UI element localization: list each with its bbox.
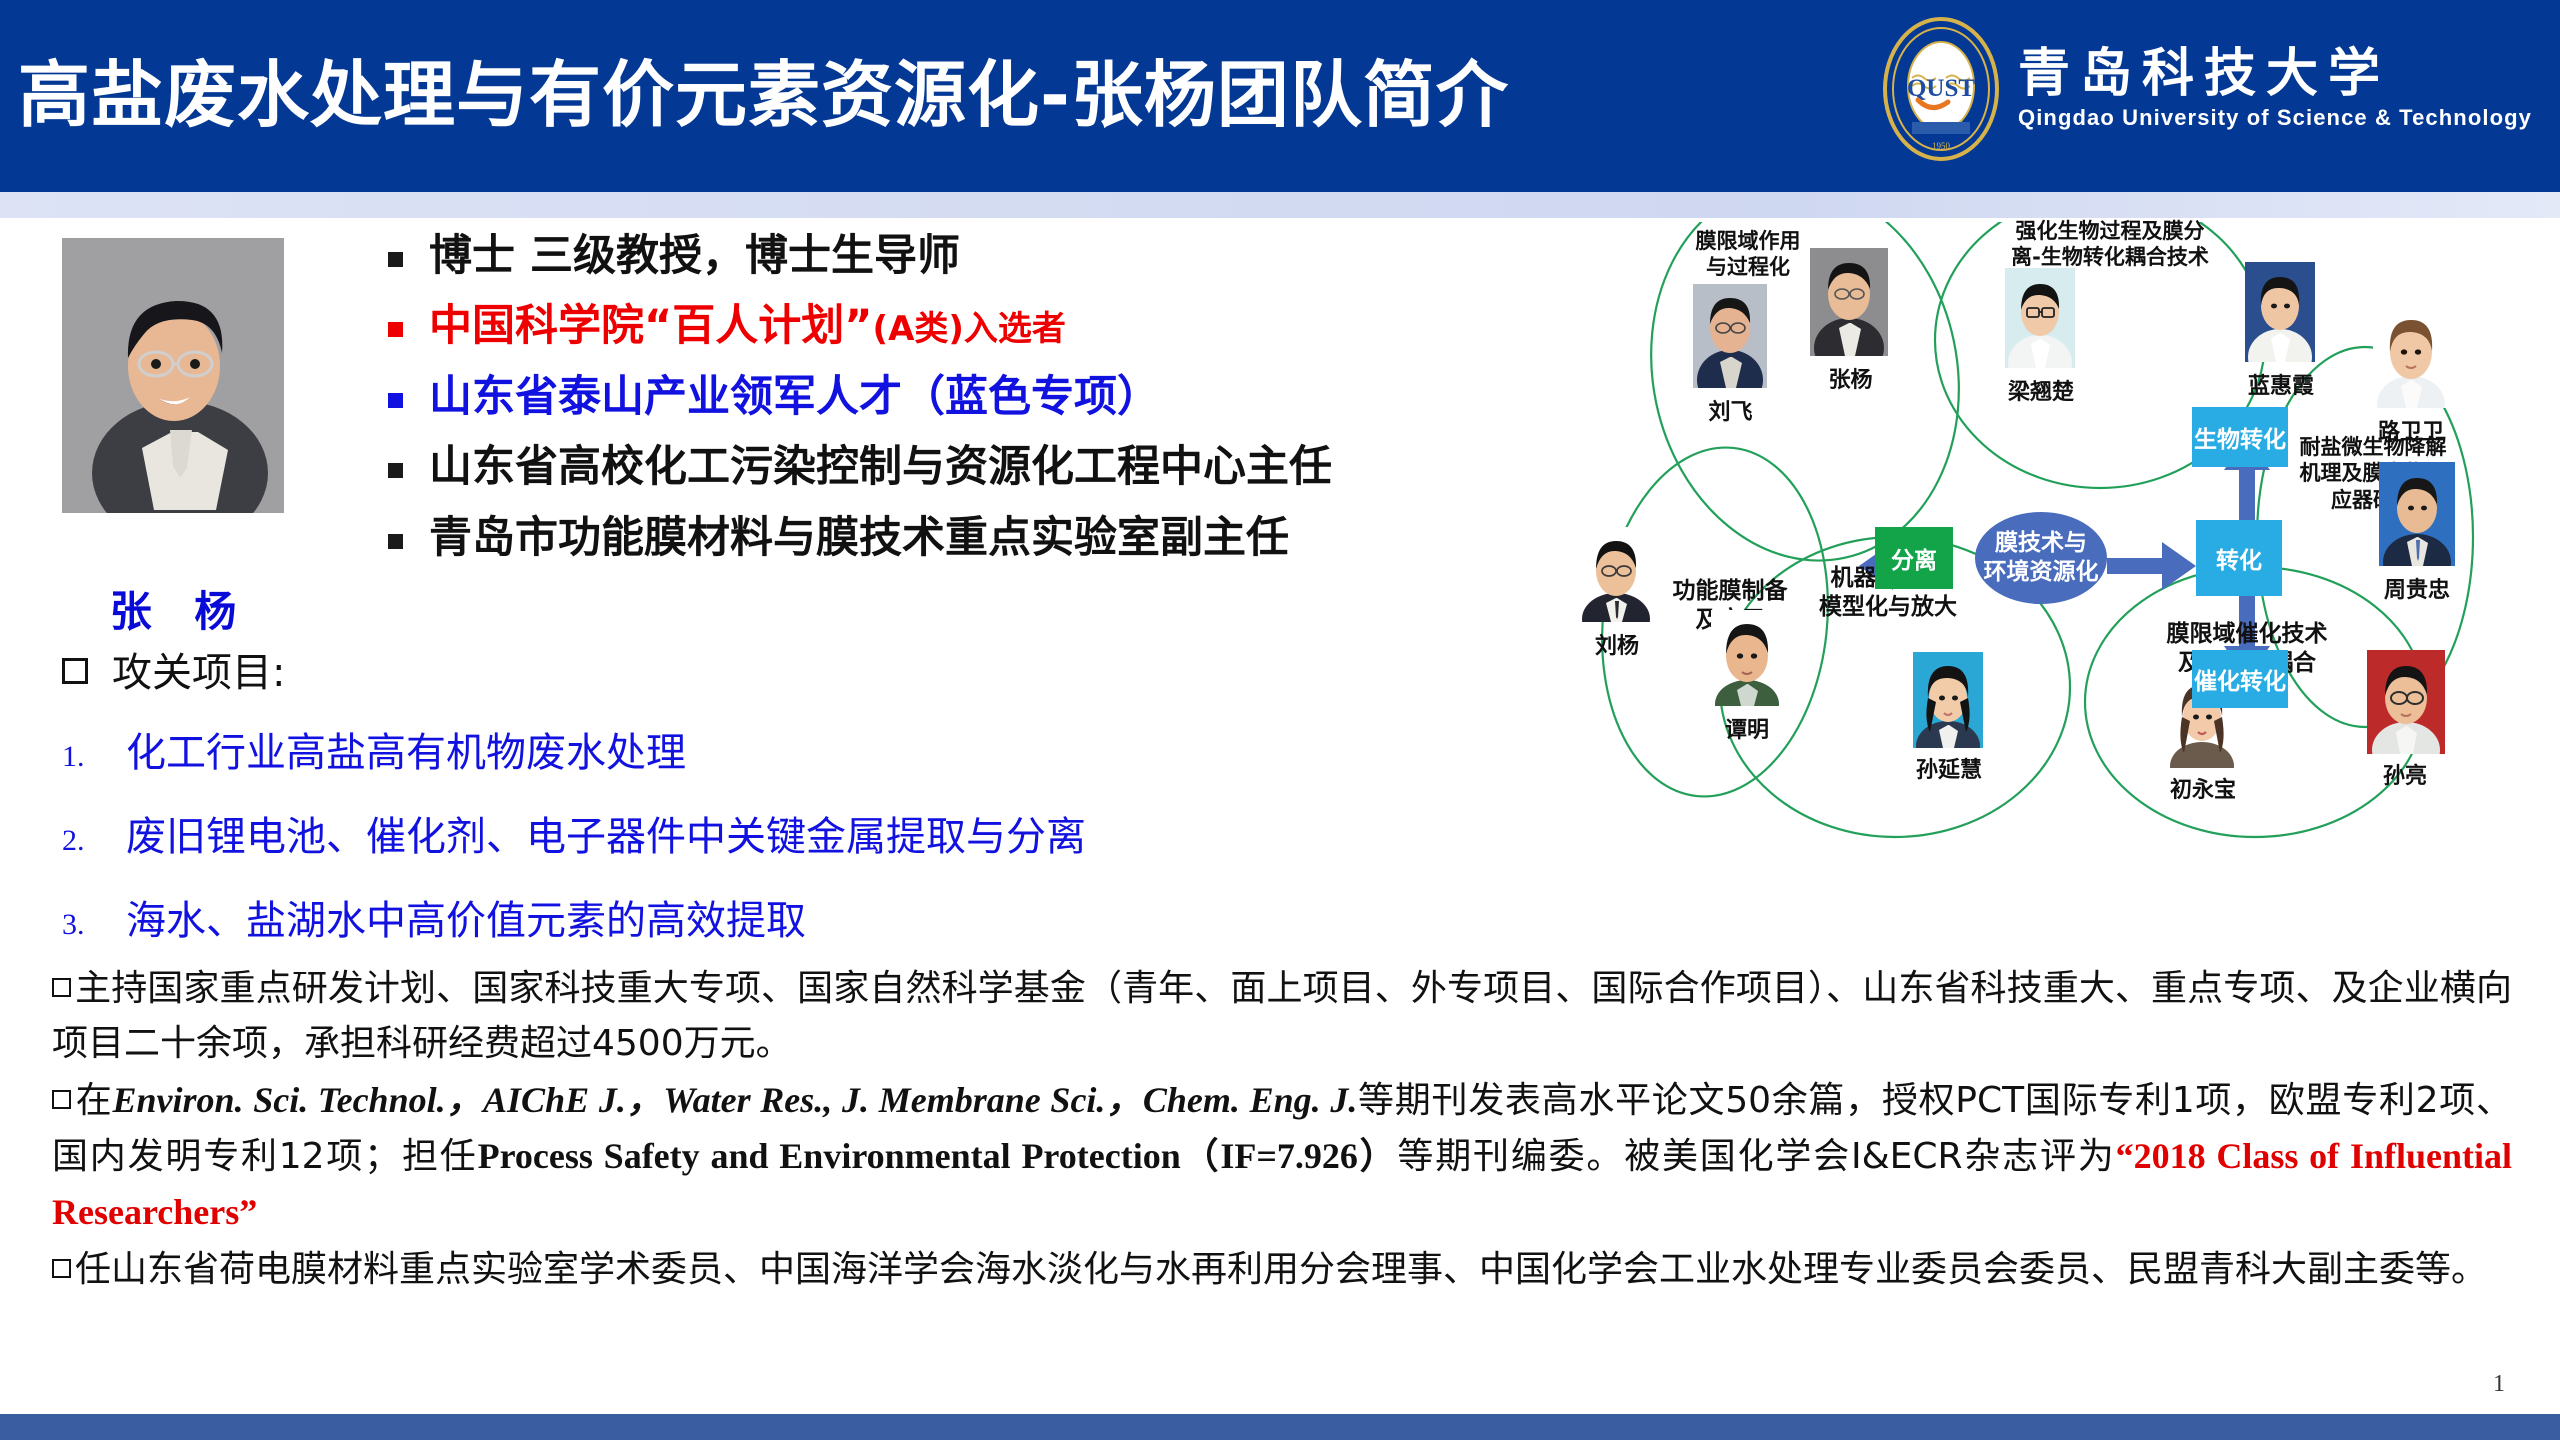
list-item: 山东省泰山产业领军人才（蓝色专项） bbox=[388, 371, 1518, 423]
paragraph-funding-text: 主持国家重点研发计划、国家科技重大专项、国家自然科学基金（青年、面上项目、外专项… bbox=[52, 968, 2512, 1064]
credential-main: 中国科学院“百人计划” bbox=[429, 301, 873, 351]
hollow-square-icon bbox=[62, 658, 88, 684]
credential-suffix: (A类)入选者 bbox=[873, 309, 1066, 349]
list-item: 中国科学院“百人计划”(A类)入选者 bbox=[388, 300, 1518, 352]
pub-tail-text: 等期刊编委。被美国化学会I&ECR杂志评为 bbox=[1397, 1136, 2115, 1177]
member-photo-liufei bbox=[1693, 284, 1767, 388]
slide-root: 高盐废水处理与有价元素资源化-张杨团队简介 QUST 1950 青岛科技大学 Q… bbox=[0, 0, 2560, 1440]
svg-text:1950: 1950 bbox=[1932, 141, 1951, 151]
bullet-square-icon bbox=[388, 322, 403, 337]
credential-label: 山东省高校化工污染控制与资源化工程中心主任 bbox=[429, 441, 1332, 493]
member-name: 周贵忠 bbox=[2367, 572, 2467, 604]
bullet-square-icon bbox=[388, 534, 403, 549]
member-name: 孙亮 bbox=[2355, 758, 2455, 790]
member-name: 孙延慧 bbox=[1901, 752, 1997, 784]
flow-core-node: 膜技术与 环境资源化 bbox=[1975, 512, 2107, 604]
hollow-square-icon bbox=[52, 978, 71, 997]
member-name: 张杨 bbox=[1803, 362, 1898, 394]
footer-bar bbox=[0, 1414, 2560, 1440]
member-name: 路卫卫 bbox=[2361, 414, 2461, 446]
credential-label: 博士 三级教授，博士生导师 bbox=[429, 230, 960, 282]
pub-editorial-journal: Process Safety and Environmental Protect… bbox=[478, 1136, 1398, 1176]
list-item: 博士 三级教授，博士生导师 bbox=[388, 230, 1518, 282]
projects-heading-label: 攻关项目: bbox=[112, 650, 285, 696]
bullet-square-icon bbox=[388, 393, 403, 408]
member-photo-liuyang bbox=[1577, 527, 1655, 622]
list-item: 3. 海水、盐湖水中高价值元素的高效提取 bbox=[62, 888, 1412, 946]
project-number: 2. bbox=[62, 824, 126, 858]
logo-name-cn: 青岛科技大学 bbox=[2018, 47, 2532, 102]
team-structure-diagram: 膜限域作用 与过程化 刘飞 张杨 强化生物过程及膜分 离-生物转化耦合技术 梁翘… bbox=[1555, 222, 2555, 912]
page-number: 1 bbox=[2493, 1371, 2505, 1398]
member-photo-luweiwei bbox=[2373, 304, 2449, 408]
avatar bbox=[62, 238, 284, 513]
page-title: 高盐废水处理与有价元素资源化-张杨团队简介 bbox=[18, 36, 1509, 141]
paragraph-publications: 在Environ. Sci. Technol.，AIChE J.，Water R… bbox=[52, 1073, 2512, 1240]
project-label: 化工行业高盐高有机物废水处理 bbox=[126, 720, 686, 778]
paragraph-memberships-text: 任山东省荷电膜材料重点实验室学术委员、中国海洋学会海水淡化与水再利用分会理事、中… bbox=[75, 1249, 2487, 1290]
member-photo-tanming bbox=[1711, 610, 1783, 706]
header-accent-band bbox=[0, 192, 2560, 218]
hollow-square-icon bbox=[52, 1090, 71, 1109]
project-label: 海水、盐湖水中高价值元素的高效提取 bbox=[126, 888, 806, 946]
bullet-square-icon bbox=[388, 463, 403, 478]
member-photo-liangqiaochu bbox=[2005, 268, 2075, 368]
project-number: 1. bbox=[62, 740, 126, 774]
list-item: 青岛市功能膜材料与膜技术重点实验室副主任 bbox=[388, 512, 1518, 564]
projects-list: 1. 化工行业高盐高有机物废水处理 2. 废旧锂电池、催化剂、电子器件中关键金属… bbox=[62, 720, 1412, 972]
list-item: 山东省高校化工污染控制与资源化工程中心主任 bbox=[388, 441, 1518, 493]
flow-node-conversion: 转化 bbox=[2196, 520, 2282, 596]
projects-heading: 攻关项目: bbox=[62, 640, 285, 698]
flow-node-bioconversion: 生物转化 bbox=[2192, 407, 2288, 467]
hollow-square-icon bbox=[52, 1259, 71, 1278]
logo-name-en: Qingdao University of Science & Technolo… bbox=[2018, 105, 2532, 131]
paragraph-funding: 主持国家重点研发计划、国家科技重大专项、国家自然科学基金（青年、面上项目、外专项… bbox=[52, 962, 2512, 1071]
credential-label: 青岛市功能膜材料与膜技术重点实验室副主任 bbox=[429, 512, 1289, 564]
project-number: 3. bbox=[62, 908, 126, 942]
member-photo-zhangyang bbox=[1810, 248, 1888, 356]
member-name: 蓝惠霞 bbox=[2233, 368, 2329, 400]
list-item: 2. 废旧锂电池、催化剂、电子器件中关键金属提取与分离 bbox=[62, 804, 1412, 862]
member-photo-lanhuixia bbox=[2245, 262, 2315, 362]
project-label: 废旧锂电池、催化剂、电子器件中关键金属提取与分离 bbox=[126, 804, 1086, 862]
paragraph-memberships: 任山东省荷电膜材料重点实验室学术委员、中国海洋学会海水淡化与水再利用分会理事、中… bbox=[52, 1243, 2512, 1298]
achievements-block: 主持国家重点研发计划、国家科技重大专项、国家自然科学基金（青年、面上项目、外专项… bbox=[52, 962, 2512, 1299]
member-name: 刘杨 bbox=[1569, 628, 1665, 660]
university-logo: QUST 1950 青岛科技大学 Qingdao University of S… bbox=[1882, 14, 2532, 164]
university-seal-icon: QUST 1950 bbox=[1882, 16, 2000, 162]
member-name: 刘飞 bbox=[1683, 394, 1778, 426]
member-name: 谭明 bbox=[1701, 712, 1793, 744]
credential-label: 山东省泰山产业领军人才（蓝色专项） bbox=[429, 371, 1160, 423]
profile-name: 张 杨 bbox=[62, 578, 284, 639]
member-photo-zhouguizhong bbox=[2379, 462, 2455, 566]
list-item: 1. 化工行业高盐高有机物废水处理 bbox=[62, 720, 1412, 778]
pub-prefix: 在 bbox=[75, 1080, 112, 1121]
group-label-bioprocess-coupling: 强化生物过程及膜分 离-生物转化耦合技术 bbox=[1985, 218, 2235, 271]
member-photo-sunyanhui bbox=[1913, 652, 1983, 748]
member-name: 初永宝 bbox=[2155, 772, 2251, 804]
member-photo-sunliang bbox=[2367, 650, 2445, 754]
member-name: 梁翘楚 bbox=[1993, 374, 2089, 406]
pub-journal-list: Environ. Sci. Technol.，AIChE J.，Water Re… bbox=[112, 1080, 1357, 1120]
flow-node-separation: 分离 bbox=[1875, 527, 1953, 589]
credentials-list: 博士 三级教授，博士生导师 中国科学院“百人计划”(A类)入选者 山东省泰山产业… bbox=[388, 230, 1518, 582]
bullet-square-icon bbox=[388, 252, 403, 267]
credential-label: 中国科学院“百人计划”(A类)入选者 bbox=[429, 300, 1066, 352]
flow-node-catalytic-conversion: 催化转化 bbox=[2192, 650, 2288, 708]
